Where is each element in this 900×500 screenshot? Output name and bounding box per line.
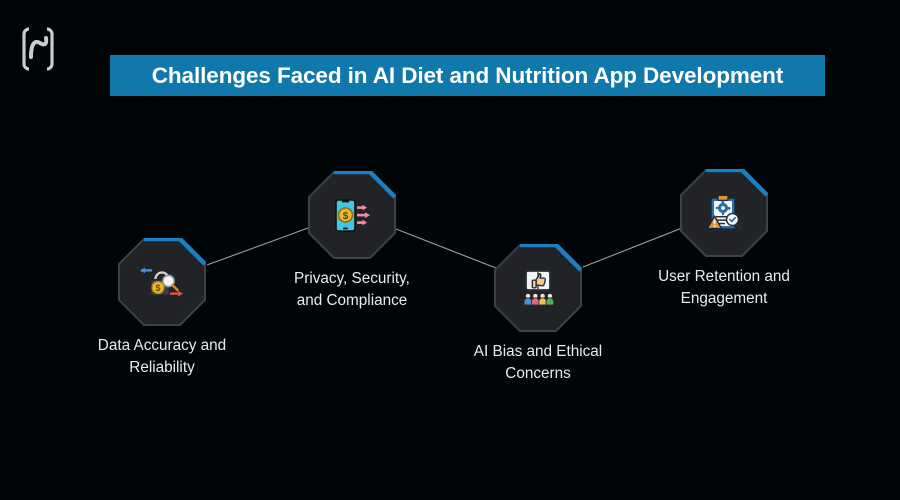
node-privacy-security-compliance[interactable]: $ Privacy, Security, and Compliance (262, 171, 442, 311)
brand-logo-icon (22, 27, 54, 71)
smartphone-payment-icon: $ (329, 192, 375, 238)
thumbs-up-audience-icon (515, 265, 561, 311)
node-ai-bias-ethical-concerns[interactable]: AI Bias and Ethical Concerns (448, 244, 628, 384)
coin-magnifier-arrows-icon: $ (139, 259, 185, 305)
node-label-user-retention-engagement: User Retention and Engagement (634, 266, 814, 309)
node-label-ai-bias-ethical-concerns: AI Bias and Ethical Concerns (448, 341, 628, 384)
node-octagon-data-accuracy: $ (118, 238, 206, 326)
node-data-accuracy[interactable]: $ Data Accuracy and Reliability (72, 238, 252, 378)
brand-logo (22, 27, 54, 71)
node-octagon-user-retention-engagement (680, 169, 768, 257)
node-octagon-ai-bias-ethical-concerns (494, 244, 582, 332)
node-user-retention-engagement[interactable]: User Retention and Engagement (634, 169, 814, 309)
infographic-canvas: Challenges Faced in AI Diet and Nutritio… (0, 0, 900, 500)
page-title: Challenges Faced in AI Diet and Nutritio… (152, 63, 783, 89)
clipboard-audit-icon (701, 190, 747, 236)
node-label-data-accuracy: Data Accuracy and Reliability (72, 335, 252, 378)
svg-text:$: $ (155, 283, 160, 293)
node-octagon-privacy-security-compliance: $ (308, 171, 396, 259)
svg-text:$: $ (343, 211, 349, 222)
node-label-privacy-security-compliance: Privacy, Security, and Compliance (262, 268, 442, 311)
page-title-banner: Challenges Faced in AI Diet and Nutritio… (110, 55, 825, 96)
